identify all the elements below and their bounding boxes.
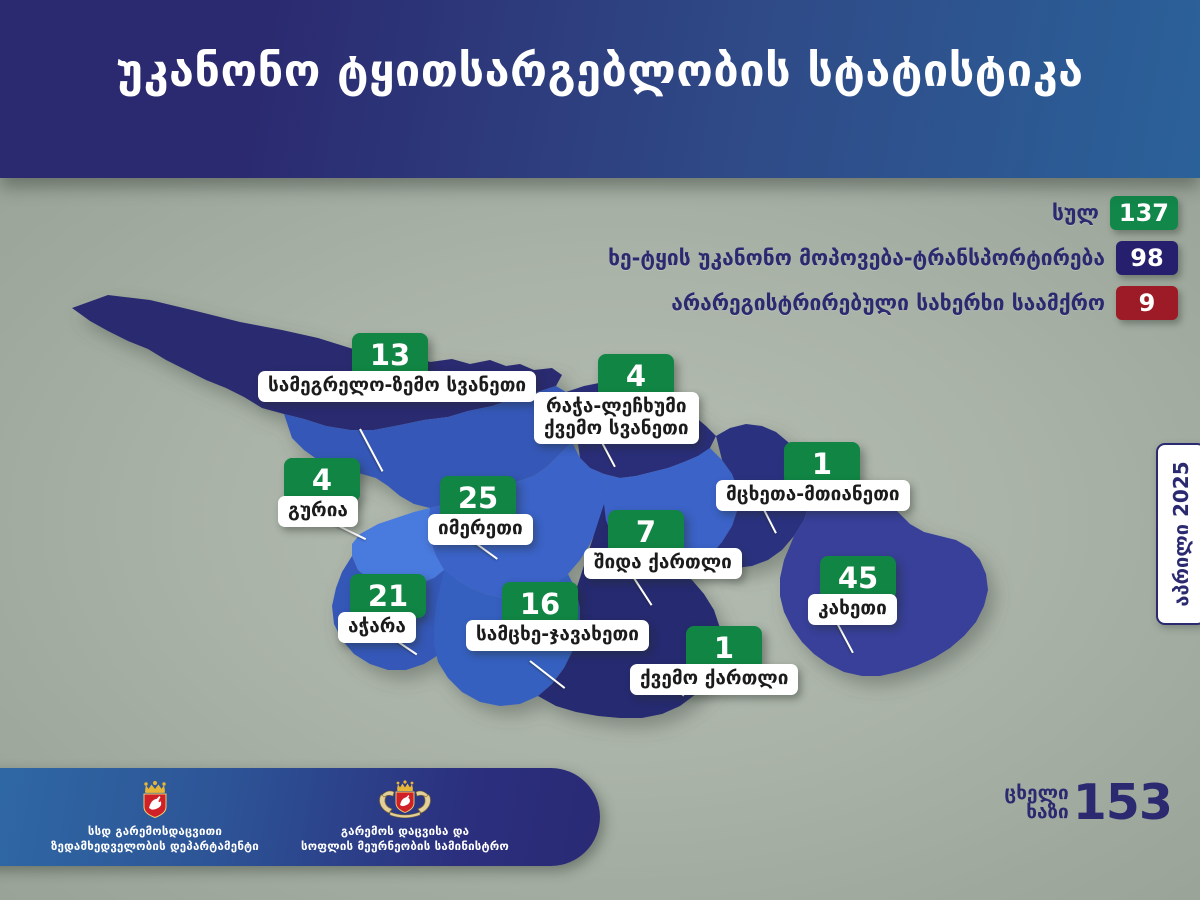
legend-label-illegal-logging: ხე-ტყის უკანონო მოპოვება-ტრანსპორტირება <box>608 246 1105 270</box>
org-left-caption: სსდ გარემოსდაცვითი ზედამხედველობის დეპარ… <box>40 824 270 854</box>
hotline-block: ცხელი ხაზი 153 <box>1004 780 1172 825</box>
callout-label: გურია <box>278 496 358 527</box>
org-right-caption: გარემოს დაცვისა და სოფლის მეურნეობის სამ… <box>270 824 540 854</box>
callout-label: ქვემო ქართლი <box>630 664 798 695</box>
callout-label: აჭარა <box>338 612 416 643</box>
callout-kvemo-kartli[interactable]: 1 ქვემო ქართლი <box>630 626 798 695</box>
callout-label: რაჭა-ლეჩხუმიქვემო სვანეთი <box>534 392 699 444</box>
callout-samtskhe-javakheti[interactable]: 16 სამცხე-ჯავახეთი <box>466 582 649 651</box>
callout-label: სამცხე-ჯავახეთი <box>466 620 649 651</box>
date-tab: აპრილი 2025 <box>1156 443 1200 625</box>
page-title: უკანონო ტყითსარგებლობის სტატისტიკა <box>0 44 1200 97</box>
callout-label-line2: ქვემო სვანეთი <box>544 417 689 439</box>
footer-bar: სსდ გარემოსდაცვითი ზედამხედველობის დეპარ… <box>0 768 600 866</box>
callout-label-line1: რაჭა-ლეჩხუმი <box>546 395 687 417</box>
legend-totals: სულ 137 ხე-ტყის უკანონო მოპოვება-ტრანსპო… <box>608 196 1178 320</box>
org-right: გარემოს დაცვისა და სოფლის მეურნეობის სამ… <box>270 778 540 854</box>
callout-imereti[interactable]: 25 იმერეთი <box>428 476 533 545</box>
legend-row-unregistered-sawmill: არარეგისტრირებული სახერხი საამქრო 9 <box>671 286 1178 320</box>
callout-label: მცხეთა-მთიანეთი <box>716 480 910 511</box>
callout-label: კახეთი <box>808 594 897 625</box>
callout-mtskheta-mtianeti[interactable]: 1 მცხეთა-მთიანეთი <box>716 442 910 511</box>
legend-badge-illegal-logging: 98 <box>1116 241 1178 275</box>
callout-guria[interactable]: 4 გურია <box>278 458 360 527</box>
georgia-full-coat-of-arms-icon <box>376 778 434 820</box>
callout-adjara[interactable]: 21 აჭარა <box>338 574 426 643</box>
legend-badge-total: 137 <box>1110 196 1178 230</box>
callout-samegrelo-zemo-svaneti[interactable]: 13 სამეგრელო-ზემო სვანეთი <box>258 333 536 402</box>
org-left-line2: ზედამხედველობის დეპარტამენტი <box>40 839 270 854</box>
callout-shida-kartli[interactable]: 7 შიდა ქართლი <box>584 510 742 579</box>
infographic-canvas: უკანონო ტყითსარგებლობის სტატისტიკა სულ 1… <box>0 0 1200 900</box>
hotline-word-line: ხაზი <box>1004 803 1068 822</box>
callout-label: შიდა ქართლი <box>584 548 742 579</box>
legend-row-illegal-logging: ხე-ტყის უკანონო მოპოვება-ტრანსპორტირება … <box>608 241 1178 275</box>
org-right-line2: სოფლის მეურნეობის სამინისტრო <box>270 839 540 854</box>
callout-kakheti[interactable]: 45 კახეთი <box>808 556 897 625</box>
callout-racha-lechkhumi-kvemo-svaneti[interactable]: 4 რაჭა-ლეჩხუმიქვემო სვანეთი <box>534 354 699 444</box>
callout-label: იმერეთი <box>428 514 533 545</box>
legend-label-unregistered-sawmill: არარეგისტრირებული სახერხი საამქრო <box>671 291 1105 315</box>
hotline-words: ცხელი ხაზი <box>1004 784 1068 822</box>
callout-label: სამეგრელო-ზემო სვანეთი <box>258 371 536 402</box>
org-left-line1: სსდ გარემოსდაცვითი <box>40 824 270 839</box>
org-right-line1: გარემოს დაცვისა და <box>270 824 540 839</box>
legend-label-total: სულ <box>1052 201 1099 225</box>
georgia-coat-of-arms-simple-icon <box>138 780 172 820</box>
hotline-number: 153 <box>1073 780 1172 825</box>
org-left: სსდ გარემოსდაცვითი ზედამხედველობის დეპარ… <box>40 780 270 854</box>
hotline-word-hot: ცხელი <box>1004 784 1068 803</box>
header-banner: უკანონო ტყითსარგებლობის სტატისტიკა <box>0 0 1200 178</box>
legend-badge-unregistered-sawmill: 9 <box>1116 286 1178 320</box>
legend-row-total: სულ 137 <box>1052 196 1178 230</box>
date-label: აპრილი 2025 <box>1169 461 1193 606</box>
